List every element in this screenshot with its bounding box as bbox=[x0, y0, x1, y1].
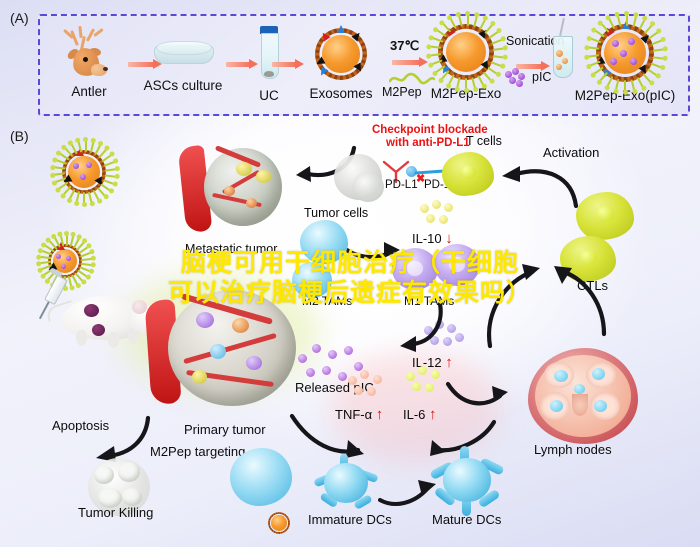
peptide-spike-icon bbox=[651, 63, 663, 69]
peptide-spike-icon bbox=[651, 39, 663, 45]
label-activation: Activation bbox=[543, 145, 599, 160]
panel-a-label-antler: Antler bbox=[50, 84, 128, 99]
label-lymph-nodes: Lymph nodes bbox=[534, 442, 612, 457]
t-cell-icon bbox=[442, 152, 494, 196]
peptide-spike-icon bbox=[483, 71, 492, 81]
peptide-spike-icon bbox=[487, 67, 498, 75]
watermark-overlay: 脑梗可用干细胞治疗（干细胞 可以治疗脑梗后遗症有效果吗） bbox=[0, 248, 700, 308]
label-pd-l1: PD-L1 bbox=[385, 179, 418, 191]
label-checkpoint-blockade-2: with anti-PD-L1 bbox=[386, 137, 470, 149]
peptide-spike-icon bbox=[83, 192, 85, 204]
peptide-spike-icon bbox=[465, 78, 467, 90]
petri-dish-icon bbox=[154, 40, 212, 66]
watermark-line-2: 可以治疗脑梗后遗症有效果吗） bbox=[0, 278, 700, 308]
panel-a-label-ascs-culture: ASCs culture bbox=[124, 78, 242, 93]
panel-a-letter: (A) bbox=[10, 10, 29, 26]
peptide-spike-icon bbox=[637, 77, 644, 89]
label-tumor-killing: Tumor Killing bbox=[78, 505, 153, 520]
label-immature-dcs: Immature DCs bbox=[308, 512, 392, 527]
figure-root: (A) Antler ASCs culture bbox=[0, 0, 700, 547]
label-tnfa-text: TNF-α bbox=[335, 407, 372, 422]
ctl-cell-icon bbox=[576, 192, 634, 240]
peptide-spike-icon bbox=[105, 174, 117, 177]
watermark-line-1: 脑梗可用干细胞治疗（干细胞 bbox=[0, 248, 700, 278]
exosome-particle-icon bbox=[62, 150, 106, 194]
peptide-spike-icon bbox=[105, 168, 117, 171]
label-tumor-cells: Tumor cells bbox=[304, 206, 368, 220]
peptide-spike-icon bbox=[624, 80, 626, 92]
metastatic-tumor-icon bbox=[180, 140, 296, 238]
peptide-spike-icon bbox=[88, 191, 93, 203]
panel-a-label-uc: UC bbox=[245, 88, 293, 103]
peptide-spike-icon bbox=[488, 30, 499, 38]
il10-cytokine-cluster bbox=[420, 200, 460, 228]
il6-cytokine-cluster bbox=[406, 366, 454, 398]
il6-up-arrow: ↑ bbox=[429, 406, 437, 423]
label-il6: IL-6 ↑ bbox=[403, 406, 437, 423]
lymph-node-icon bbox=[528, 348, 638, 444]
tumor-cell-icon bbox=[352, 172, 384, 202]
centrifuge-tube-icon bbox=[259, 26, 279, 84]
label-il10-text: IL-10 bbox=[412, 231, 442, 246]
panel-b: (B) bbox=[0, 122, 700, 547]
peptide-spike-icon bbox=[467, 14, 469, 26]
peptide-spike-icon bbox=[653, 48, 665, 51]
panel-a-step-ascs-culture: ASCs culture bbox=[124, 40, 242, 93]
panel-a-step-m2pep-exo: M2Pep-Exo bbox=[418, 24, 514, 101]
panel-a: (A) Antler ASCs culture bbox=[0, 0, 700, 122]
panel-a-step-exosomes: Exosomes bbox=[302, 28, 380, 101]
label-apoptosis: Apoptosis bbox=[52, 418, 109, 433]
il12-cytokine-cluster bbox=[424, 320, 472, 352]
panel-a-step-antler: Antler bbox=[50, 26, 128, 99]
deer-antler-icon bbox=[59, 26, 119, 80]
peptide-spike-icon bbox=[85, 140, 87, 152]
mature-dc-icon bbox=[430, 446, 504, 514]
label-tnfa: TNF-α ↑ bbox=[335, 406, 383, 423]
tnfa-up-arrow: ↑ bbox=[376, 406, 384, 423]
panel-a-label-exosomes: Exosomes bbox=[302, 86, 380, 101]
peptide-spike-icon bbox=[644, 24, 653, 34]
tnfa-cytokine-cluster bbox=[348, 370, 396, 402]
peptide-spike-icon bbox=[68, 189, 75, 201]
peptide-spike-icon bbox=[642, 73, 651, 83]
label-primary-tumor: Primary tumor bbox=[184, 422, 266, 437]
panel-a-label-temperature: 37℃ bbox=[390, 38, 419, 54]
arrow-activation bbox=[494, 156, 584, 217]
exosome-icon bbox=[315, 28, 367, 80]
peptide-spike-icon bbox=[429, 45, 441, 48]
panel-a-step-m2pep-exo-pic: M2Pep-Exo(pIC) bbox=[562, 24, 688, 103]
panel-a-label-pic: pIC bbox=[532, 70, 551, 84]
peptide-spike-icon bbox=[493, 55, 505, 58]
peptide-spike-icon bbox=[104, 161, 116, 167]
peptide-spike-icon bbox=[647, 68, 658, 76]
targeted-macrophage-icon bbox=[230, 448, 292, 506]
exosome-small-icon bbox=[268, 512, 290, 534]
peptide-spike-icon bbox=[626, 14, 628, 26]
panel-b-letter: (B) bbox=[10, 128, 29, 144]
peptide-spike-icon bbox=[491, 39, 503, 45]
pic-loaded-exosome-icon bbox=[596, 24, 654, 82]
label-il6-text: IL-6 bbox=[403, 407, 425, 422]
label-mature-dcs: Mature DCs bbox=[432, 512, 501, 527]
peptide-spike-icon bbox=[53, 166, 65, 169]
pic-particles-icon bbox=[505, 68, 529, 84]
peptide-spike-icon bbox=[653, 56, 665, 59]
peptide-spike-icon bbox=[491, 61, 503, 67]
peptide-spike-icon bbox=[493, 47, 505, 50]
peptide-spike-icon bbox=[587, 46, 599, 49]
label-il10: IL-10 ↓ bbox=[412, 230, 453, 247]
label-m2pep-targeting: M2Pep targeting bbox=[150, 444, 245, 459]
peptide-modified-exosome-icon bbox=[438, 24, 494, 80]
label-t-cells: T cells bbox=[466, 134, 502, 148]
peptide-spike-icon bbox=[648, 31, 659, 39]
peptide-spike-icon bbox=[66, 234, 68, 246]
arrow-uc-to-exosomes bbox=[272, 60, 304, 69]
peptide-spike-icon bbox=[477, 75, 484, 87]
panel-a-label-m2pep: M2Pep bbox=[382, 85, 422, 99]
immature-dc-icon bbox=[312, 452, 380, 514]
peptide-spike-icon bbox=[448, 74, 455, 86]
